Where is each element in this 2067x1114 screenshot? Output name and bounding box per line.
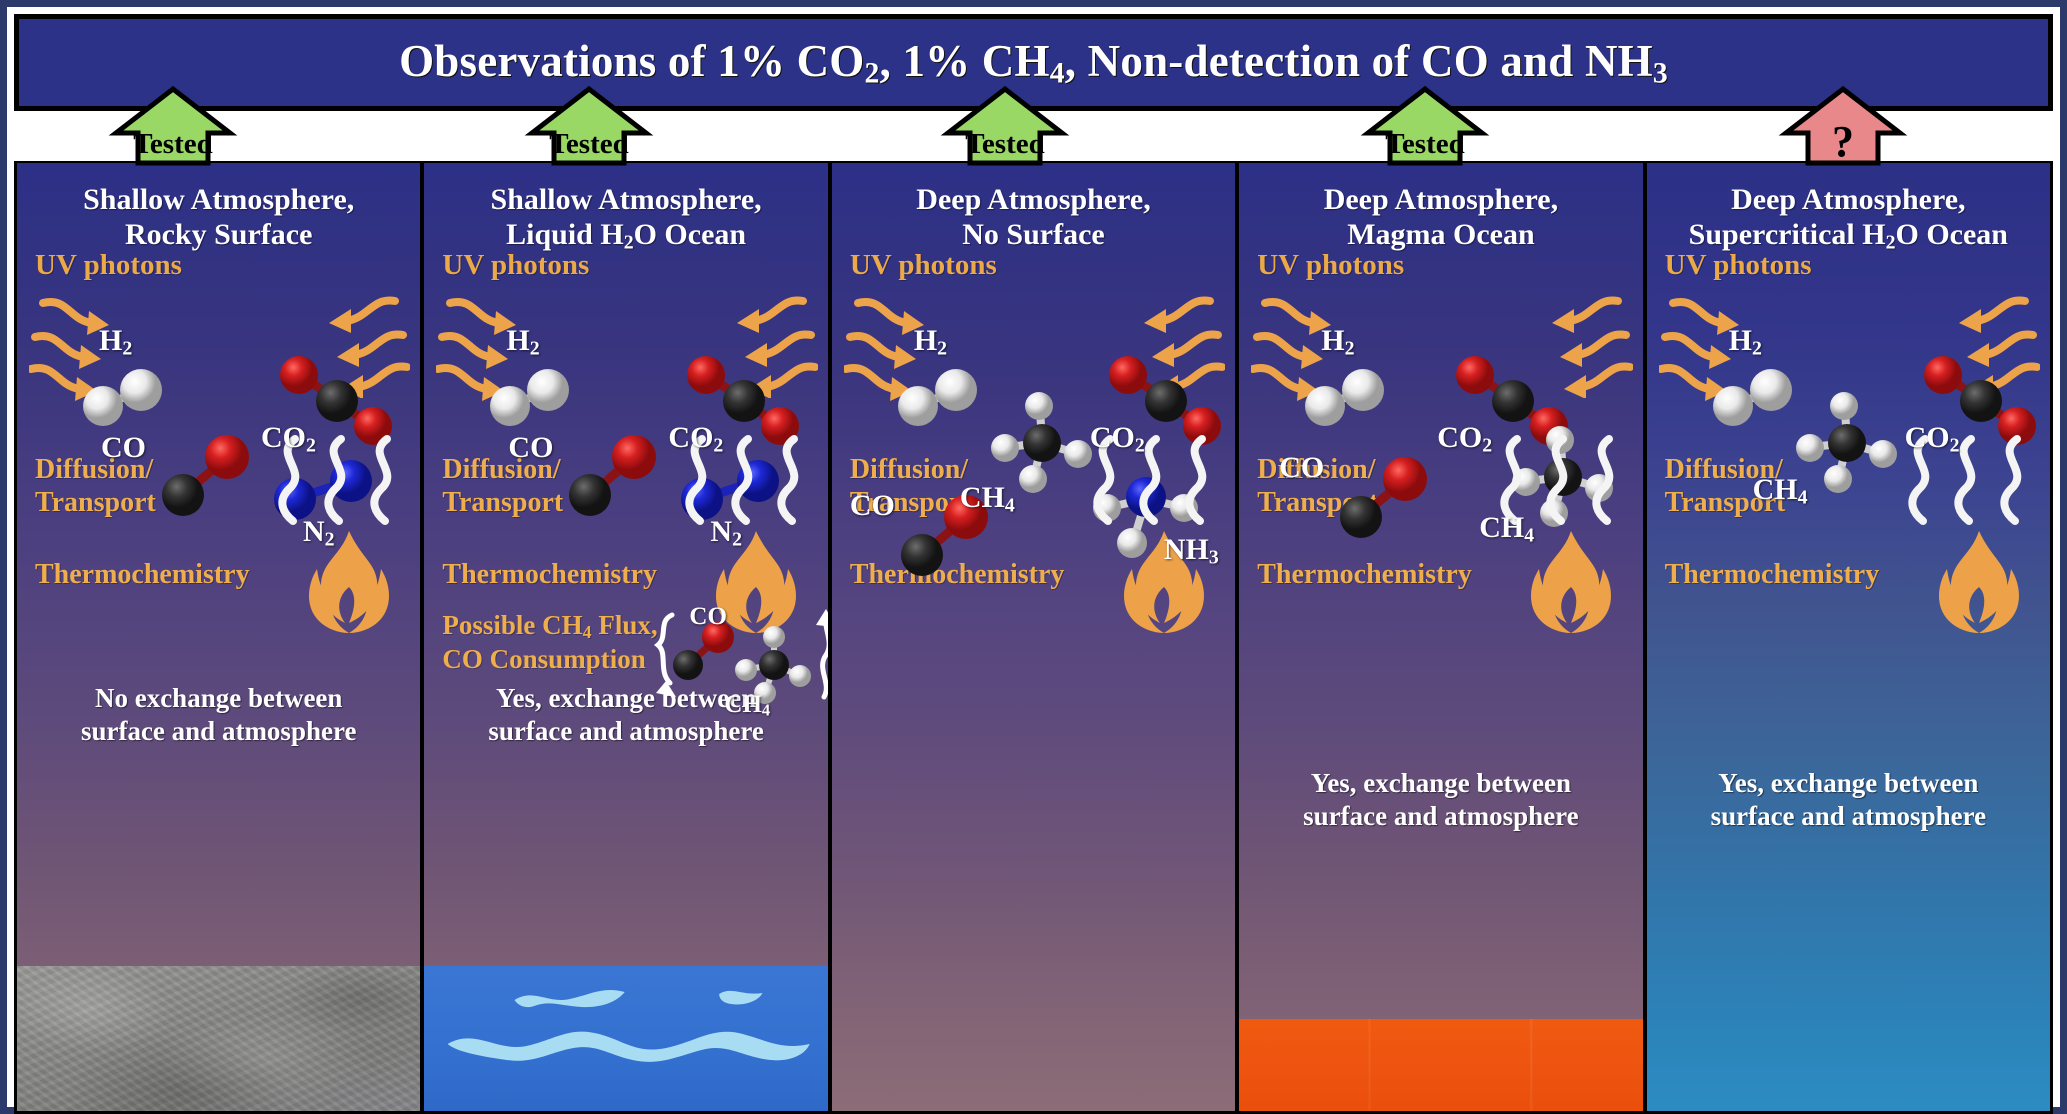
molecule-label-H2: H2 — [99, 324, 132, 360]
up-arrow-icon — [112, 87, 234, 165]
molecule-label-CO2: CO2 — [1905, 421, 1960, 457]
arrow-tested-3[interactable]: Tested — [944, 87, 1066, 165]
panel-deep-no-surface[interactable]: Deep Atmosphere, No Surface UV photons — [828, 159, 1235, 1114]
thermochemistry-label: Thermochemistry — [442, 559, 657, 591]
molecule-label-CO: CO — [1279, 451, 1324, 485]
panel-title-line1: Deep Atmosphere, — [1647, 183, 2050, 218]
exchange-line2: surface and atmosphere — [17, 715, 420, 748]
flame-icon — [1523, 529, 1619, 639]
molecule-label-CH4: CH4 — [960, 481, 1015, 517]
title-part-2: , 1% CH — [880, 36, 1050, 86]
panel-shallow-rocky[interactable]: Shallow Atmosphere, Rocky Surface UV pho… — [14, 159, 420, 1114]
title-sub-3: 3 — [1653, 57, 1668, 89]
uv-photons-label: UV photons — [1665, 249, 1812, 282]
molecule-H2 — [1705, 368, 1801, 428]
molecule-label-CH4-flux: CH4 — [724, 691, 770, 721]
panel-title: Shallow Atmosphere, Liquid H2O Ocean — [424, 163, 827, 254]
thermochemistry-label: Thermochemistry — [1665, 559, 1880, 591]
uv-photons-label: UV photons — [850, 249, 997, 282]
uv-photons-label: UV photons — [1257, 249, 1404, 282]
flux-brace-icon — [646, 611, 682, 711]
molecule-label-CO: CO — [850, 489, 895, 523]
exchange-line2: surface and atmosphere — [1647, 800, 2050, 833]
panel-shallow-liquid-ocean[interactable]: Shallow Atmosphere, Liquid H2O Ocean UV … — [420, 159, 827, 1114]
exchange-line1: Yes, exchange between — [1647, 767, 2050, 800]
arrow-tested-2[interactable]: Tested — [528, 87, 650, 165]
panel-title-line1: Shallow Atmosphere, — [17, 183, 420, 218]
molecule-label-CO: CO — [101, 431, 146, 465]
uv-photons-label: UV photons — [442, 249, 589, 282]
panel-title-line1: Deep Atmosphere, — [1239, 183, 1642, 218]
up-arrow-icon — [944, 87, 1066, 165]
magma-ocean-surface — [1239, 1019, 1642, 1111]
molecule-label-CO2: CO2 — [1437, 421, 1492, 457]
molecule-CO — [562, 433, 662, 523]
molecule-label-CO2: CO2 — [1090, 421, 1145, 457]
exchange-statement: Yes, exchange between surface and atmosp… — [1239, 767, 1642, 833]
molecule-label-H2: H2 — [506, 324, 539, 360]
arrow-tested-1[interactable]: Tested — [112, 87, 234, 165]
title-part-1: Observations of 1% CO — [399, 36, 864, 86]
flux-line1: Possible CH4 Flux, — [442, 609, 657, 643]
molecule-label-CO2: CO2 — [668, 421, 723, 457]
exchange-line1: Yes, exchange between — [1239, 767, 1642, 800]
exchange-line1: No exchange between — [17, 682, 420, 715]
title-sub-2: 4 — [1050, 57, 1065, 89]
panel-title: Deep Atmosphere, No Surface — [832, 163, 1235, 253]
exchange-line2: surface and atmosphere — [1239, 800, 1642, 833]
panel-title-line2: Rocky Surface — [17, 218, 420, 253]
flux-up-arrow-icon — [810, 605, 827, 705]
molecule-label-NH3: NH3 — [1164, 533, 1219, 569]
thermochemistry-label: Thermochemistry — [1257, 559, 1472, 591]
flame-icon — [1931, 529, 2027, 639]
page-title: Observations of 1% CO2, 1% CH4, Non-dete… — [399, 35, 1668, 91]
molecule-label-CO: CO — [508, 431, 553, 465]
rocky-surface — [17, 966, 420, 1111]
molecule-label-N2: N2 — [710, 515, 742, 551]
molecule-label-H2: H2 — [1321, 324, 1354, 360]
up-arrow-icon — [528, 87, 650, 165]
molecule-label-CO2: CO2 — [261, 421, 316, 457]
diffusion-line1: Diffusion/ — [850, 453, 971, 486]
molecule-label-CH4: CH4 — [1753, 473, 1808, 509]
wave-icon — [424, 966, 827, 1111]
molecule-H2 — [482, 368, 578, 428]
exchange-statement: Yes, exchange between surface and atmosp… — [1647, 767, 2050, 833]
molecule-H2 — [75, 368, 171, 428]
flux-label: Possible CH4 Flux, CO Consumption — [442, 609, 657, 676]
molecule-label-N2: N2 — [303, 515, 335, 551]
diffusion-line2: Transport — [35, 486, 156, 519]
figure-root: Observations of 1% CO2, 1% CH4, Non-dete… — [0, 0, 2067, 1114]
panel-title-line2: Magma Ocean — [1239, 218, 1642, 253]
panel-title: Deep Atmosphere, Magma Ocean — [1239, 163, 1642, 253]
scenario-panels: Shallow Atmosphere, Rocky Surface UV pho… — [14, 159, 2053, 1114]
diffusion-line2: Transport — [442, 486, 563, 519]
uv-photons-label: UV photons — [35, 249, 182, 282]
arrow-tested-4[interactable]: Tested — [1364, 87, 1486, 165]
molecule-label-CH4: CH4 — [1479, 511, 1534, 547]
panel-title-line1: Shallow Atmosphere, — [424, 183, 827, 218]
liquid-ocean-surface — [424, 966, 827, 1111]
molecule-H2 — [890, 368, 986, 428]
flux-line2: CO Consumption — [442, 643, 657, 675]
up-arrow-icon — [1364, 87, 1486, 165]
thermochemistry-label: Thermochemistry — [35, 559, 250, 591]
panel-deep-magma-ocean[interactable]: Deep Atmosphere, Magma Ocean UV photons — [1235, 159, 1642, 1114]
panel-deep-supercritical-ocean[interactable]: Deep Atmosphere, Supercritical H2O Ocean… — [1643, 159, 2053, 1114]
molecule-CO — [1333, 455, 1433, 545]
exchange-statement: No exchange between surface and atmosphe… — [17, 682, 420, 748]
title-sub-1: 2 — [865, 57, 880, 89]
molecule-CO — [155, 433, 255, 523]
panel-title: Shallow Atmosphere, Rocky Surface — [17, 163, 420, 253]
molecule-H2 — [1297, 368, 1393, 428]
molecule-label-H2: H2 — [1729, 324, 1762, 360]
panel-title-line1: Deep Atmosphere, — [832, 183, 1235, 218]
panel-title-line2: No Surface — [832, 218, 1235, 253]
molecule-label-CO-flux: CO — [689, 603, 727, 631]
title-part-3: , Non-detection of CO and NH — [1065, 36, 1653, 86]
arrow-row: Tested Tested Tested Tested ? — [14, 111, 2053, 161]
panel-title: Deep Atmosphere, Supercritical H2O Ocean — [1647, 163, 2050, 254]
arrow-unknown-5[interactable]: ? — [1782, 87, 1904, 165]
molecule-CH4 — [1795, 391, 1900, 496]
molecule-label-H2: H2 — [914, 324, 947, 360]
up-arrow-icon — [1782, 87, 1904, 165]
